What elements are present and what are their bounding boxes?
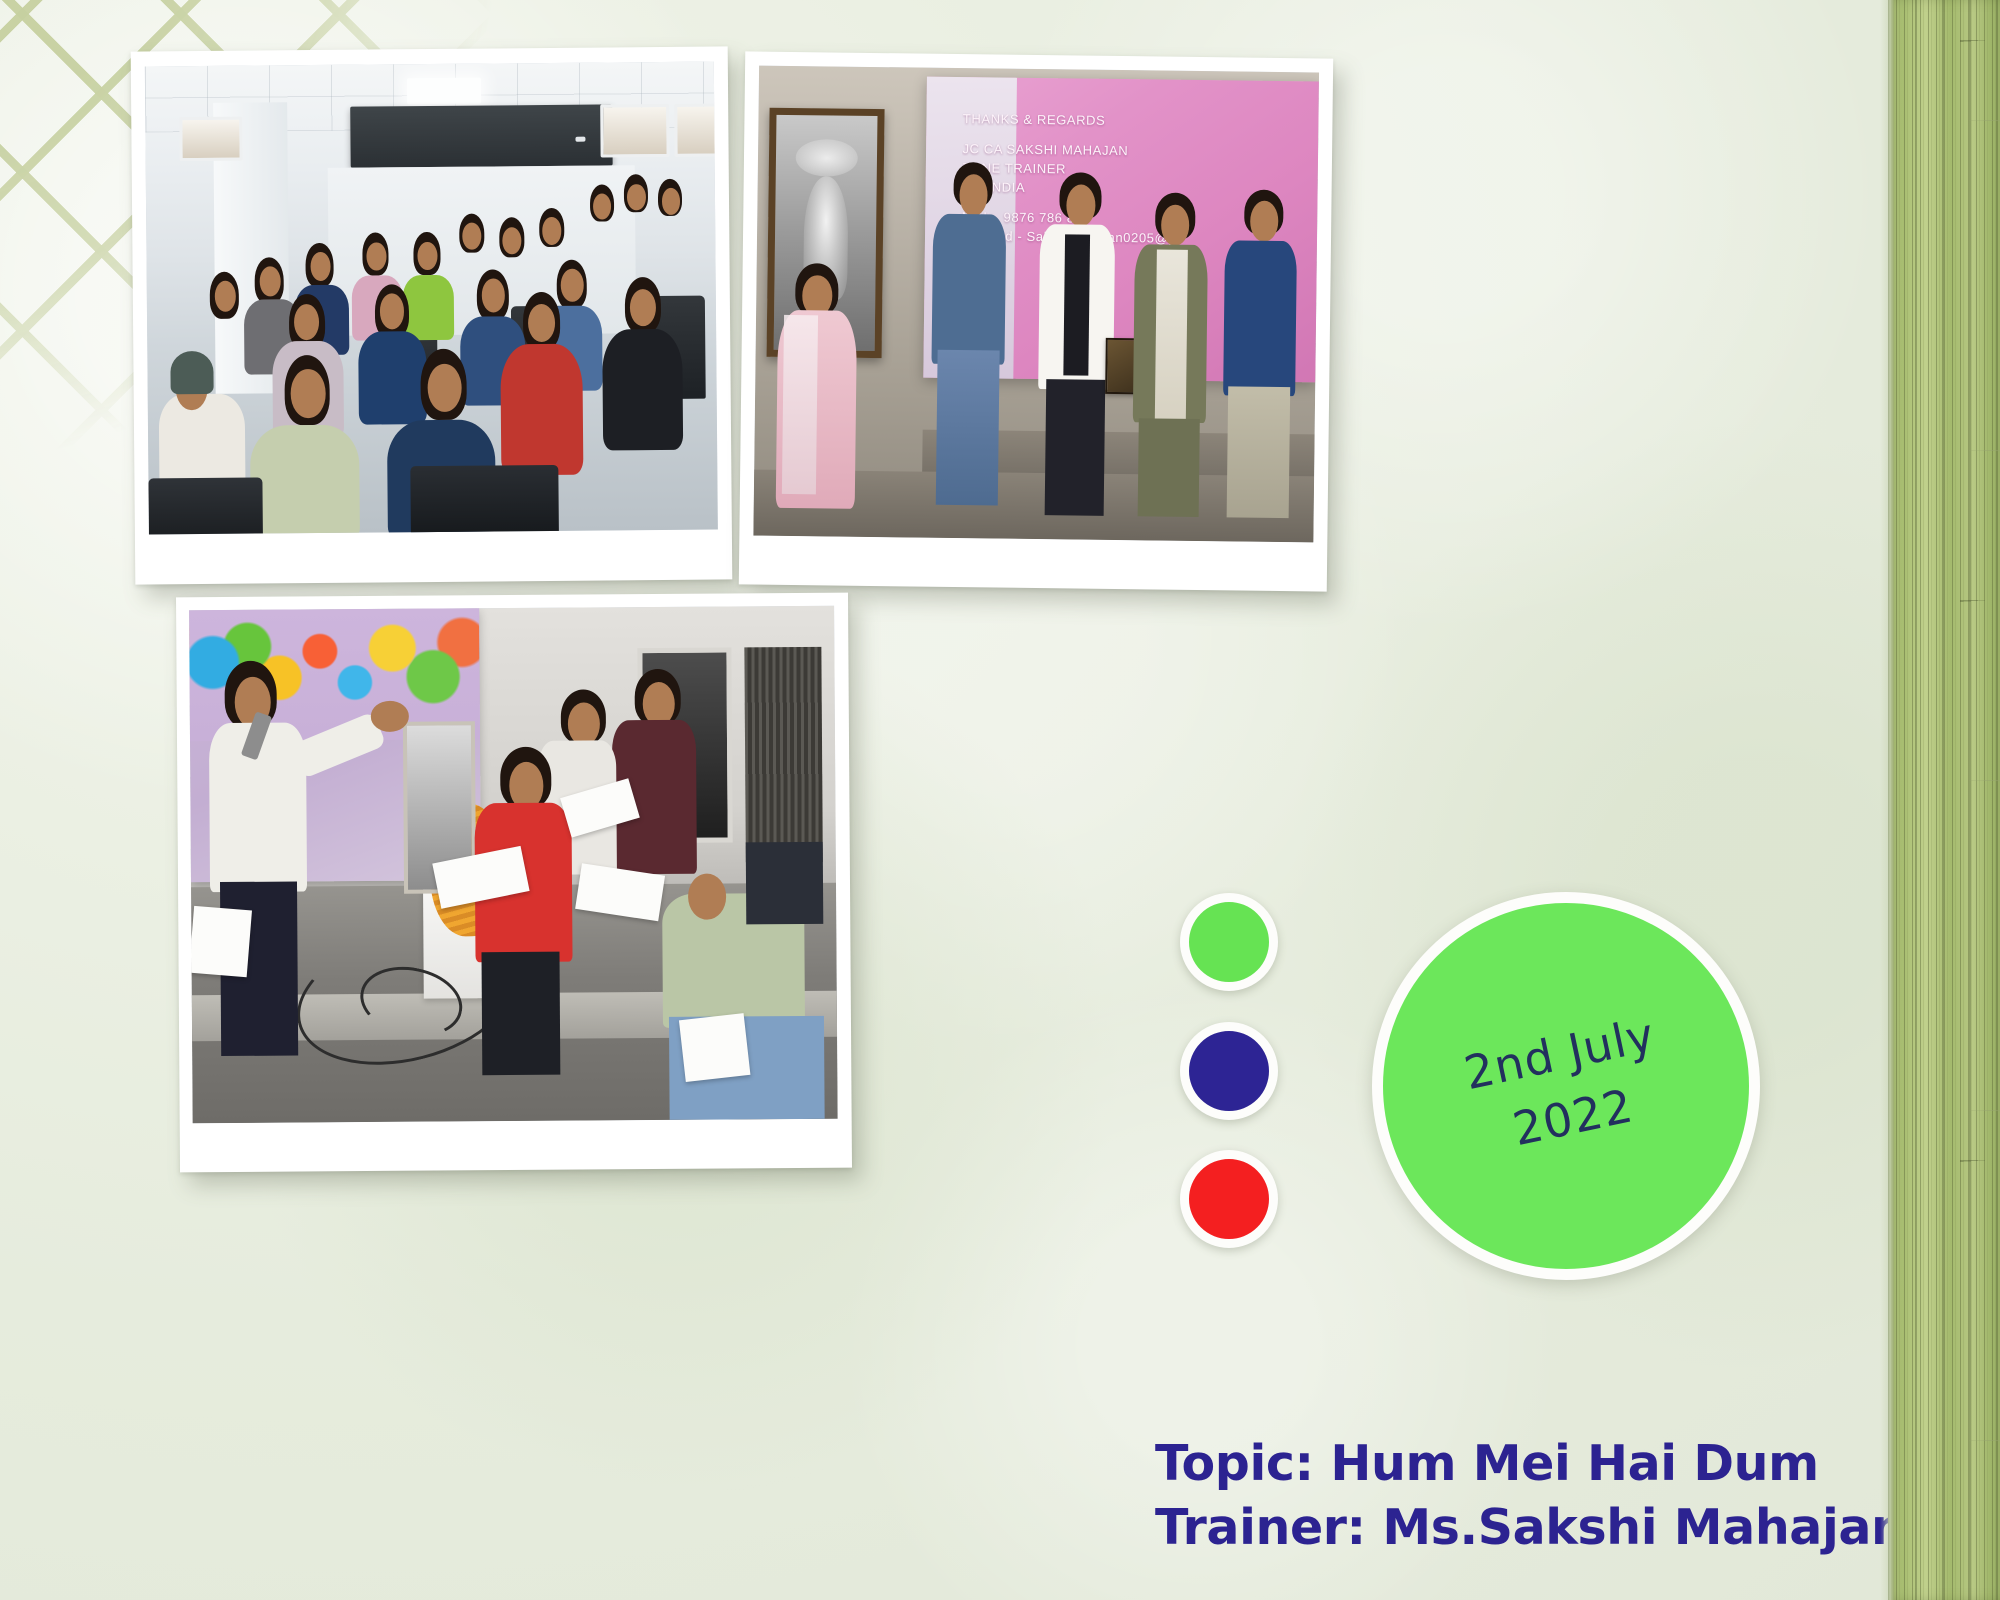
trainer-photo-image <box>189 606 838 1123</box>
date-badge: 2nd July 2022 <box>1372 892 1760 1280</box>
trainer-line: Trainer: Ms.Sakshi Mahajan <box>1155 1496 1915 1560</box>
award-photo[interactable]: THANKS & REGARDS JC CA SAKSHI MAHAJAN ZO… <box>739 51 1333 591</box>
trainer-photo[interactable] <box>176 593 852 1173</box>
navy-dot <box>1180 1022 1278 1120</box>
red-dot <box>1180 1150 1278 1248</box>
award-photo-image: THANKS & REGARDS JC CA SAKSHI MAHAJAN ZO… <box>753 66 1319 543</box>
green-dot <box>1180 893 1278 991</box>
audience-photo-image <box>145 62 718 535</box>
caption-block: Topic: Hum Mei Hai Dum Trainer: Ms.Saksh… <box>1155 1432 1915 1559</box>
topic-line: Topic: Hum Mei Hai Dum <box>1155 1432 1915 1496</box>
audience-photo[interactable] <box>131 46 733 584</box>
collage-canvas: THANKS & REGARDS JC CA SAKSHI MAHAJAN ZO… <box>0 0 2000 1600</box>
wood-border-decoration <box>1888 0 2000 1600</box>
